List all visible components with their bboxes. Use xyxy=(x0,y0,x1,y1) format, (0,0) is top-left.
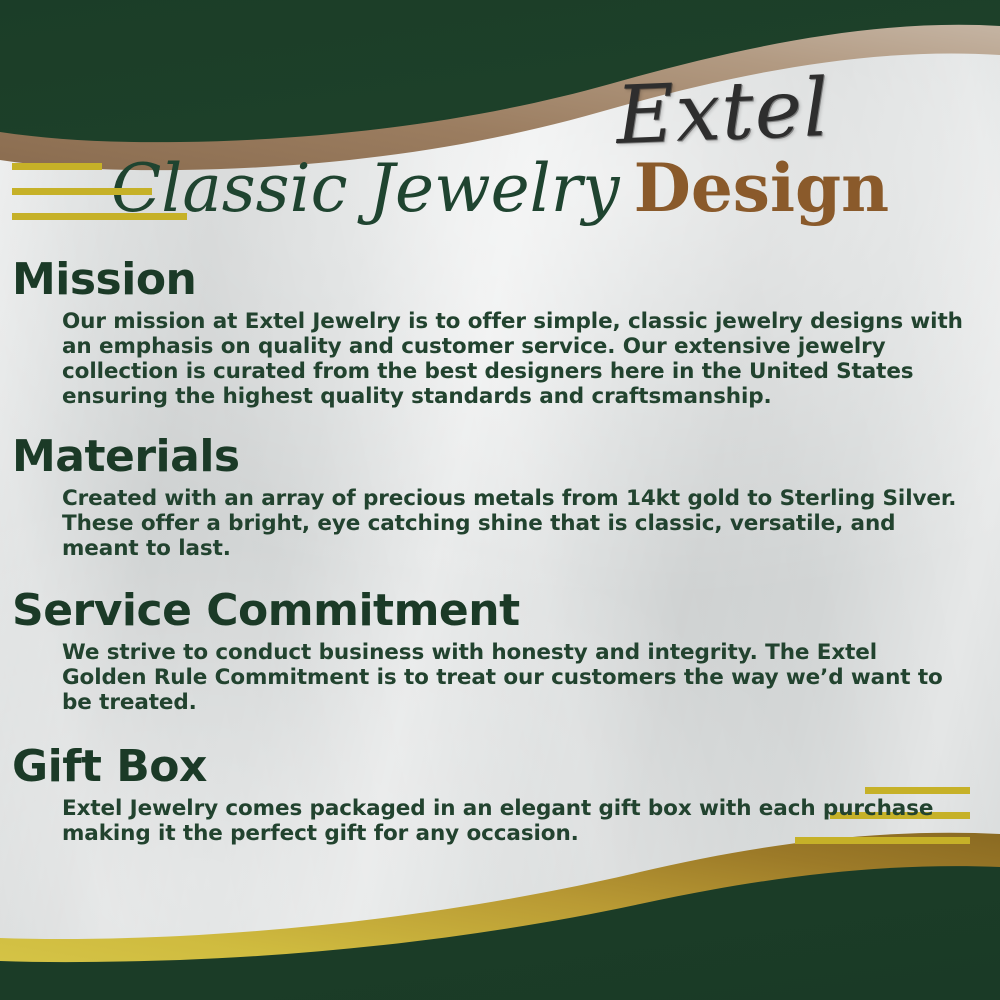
title-secondary: Design xyxy=(634,149,890,227)
gold-bar xyxy=(12,188,152,195)
gold-bars-top-left xyxy=(12,163,187,238)
section-heading-gift-box: Gift Box xyxy=(12,745,1000,790)
section-heading-mission: Mission xyxy=(12,258,1000,303)
section-service-commitment: Service Commitment We strive to conduct … xyxy=(0,589,1000,715)
section-heading-service-commitment: Service Commitment xyxy=(12,589,1000,634)
title-primary: Classic Jewelry xyxy=(111,150,620,227)
section-gift-box: Gift Box Extel Jewelry comes packaged in… xyxy=(0,745,1000,846)
section-body-service-commitment: We strive to conduct business with hones… xyxy=(62,640,966,715)
poster-canvas: Extel Classic JewelryDesign Mission Our … xyxy=(0,0,1000,1000)
section-heading-materials: Materials xyxy=(12,435,1000,480)
content-sections: Mission Our mission at Extel Jewelry is … xyxy=(0,258,1000,846)
brand-script-logo: Extel xyxy=(615,68,832,156)
section-body-materials: Created with an array of precious metals… xyxy=(62,486,966,561)
gold-bar xyxy=(12,163,102,170)
section-body-gift-box: Extel Jewelry comes packaged in an elega… xyxy=(62,796,966,846)
gold-bar xyxy=(12,213,187,220)
section-materials: Materials Created with an array of preci… xyxy=(0,435,1000,561)
section-mission: Mission Our mission at Extel Jewelry is … xyxy=(0,258,1000,409)
section-body-mission: Our mission at Extel Jewelry is to offer… xyxy=(62,309,966,409)
